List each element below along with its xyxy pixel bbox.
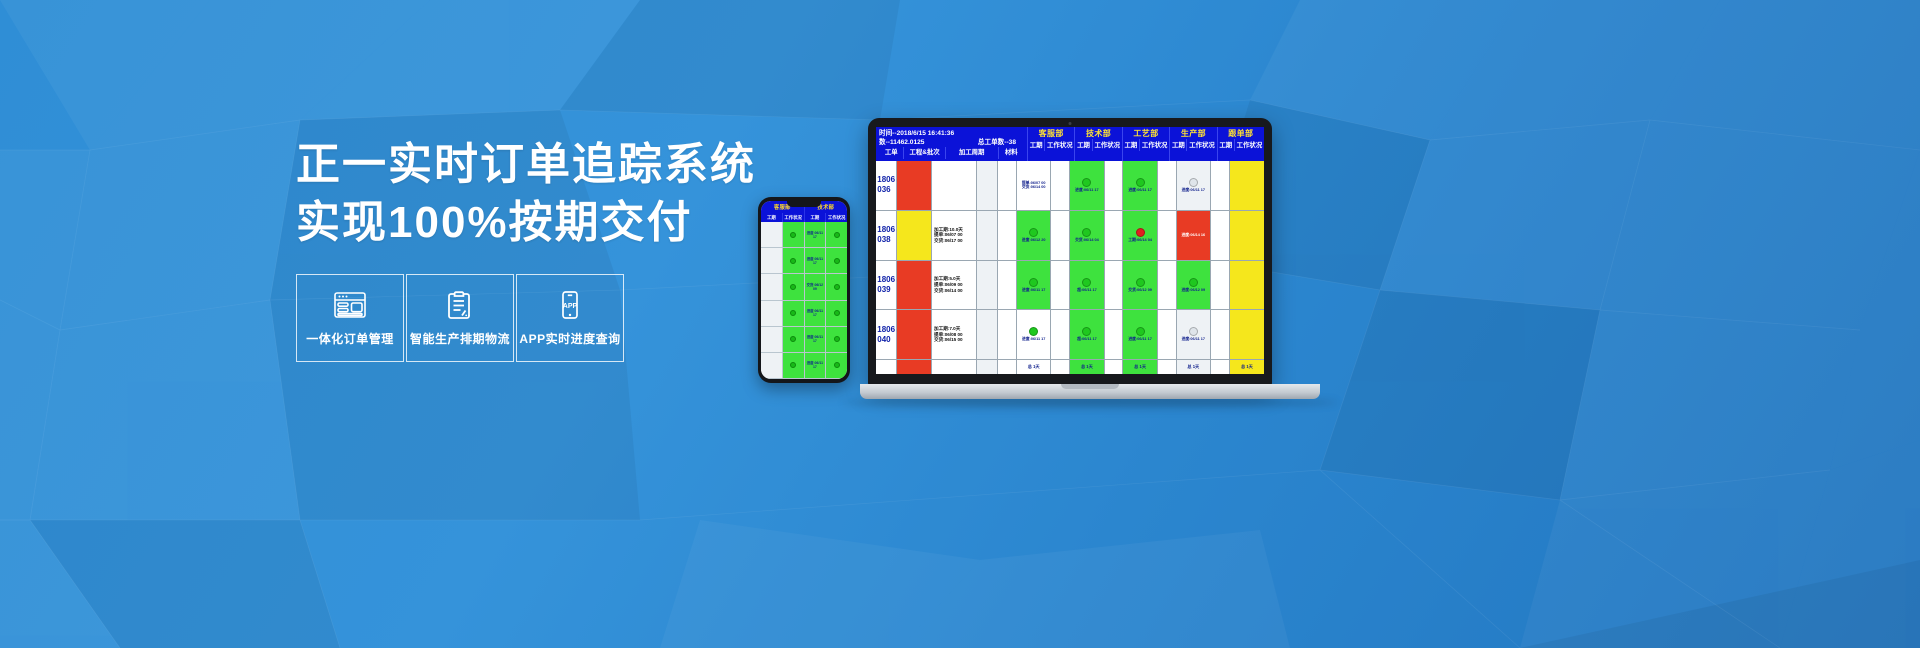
subheader-period: 工期 bbox=[1028, 139, 1045, 151]
status-dot-icon bbox=[834, 232, 840, 238]
laptop-trackpad-notch bbox=[1061, 384, 1119, 389]
cell-period[interactable] bbox=[1051, 161, 1070, 210]
status-dot-icon bbox=[1136, 228, 1145, 237]
cell-project[interactable] bbox=[897, 310, 932, 359]
cell-period bbox=[998, 360, 1017, 374]
dashboard-total-orders: 总工单数--38 bbox=[978, 138, 1016, 147]
laptop-lid: 时间--2018/6/15 16:41:36 数--11462.0125 总工单… bbox=[868, 118, 1272, 386]
phone-cell[interactable]: 进度:06/11 17 bbox=[805, 353, 826, 379]
cell-status[interactable]: 交货:06/12 09 bbox=[1123, 261, 1157, 310]
cell-period[interactable] bbox=[1211, 310, 1230, 359]
subheader-status: 工作状况 bbox=[1093, 139, 1122, 151]
cell-period[interactable] bbox=[1158, 310, 1177, 359]
cell-cycle[interactable]: 加工期:10.0天 提单:06/07 00 交货:06/17 00 bbox=[932, 211, 977, 260]
cell-status[interactable]: 进度:06/11 17 bbox=[1177, 161, 1211, 210]
feature-list: 一体化订单管理 智能生产排期物流 bbox=[296, 274, 816, 362]
cell-period[interactable] bbox=[998, 211, 1017, 260]
cell-status[interactable]: 交货:06/14 04 bbox=[1070, 211, 1104, 260]
footer-total: 总 1天 bbox=[1177, 360, 1211, 374]
status-dot-icon bbox=[834, 284, 840, 290]
laptop-shadow bbox=[842, 398, 1338, 407]
status-dot-icon bbox=[1082, 178, 1091, 187]
phone-cell[interactable]: 进度:06/11 17 bbox=[805, 301, 826, 327]
smartphone-device: 客服部 技术部 工期 工作状况 工期 工作状况 bbox=[758, 197, 850, 383]
phone-status-cell[interactable] bbox=[783, 301, 804, 327]
cell-period[interactable] bbox=[1158, 261, 1177, 310]
column-header-cycle: 加工周期 bbox=[946, 147, 999, 159]
footer-total: 总 1天 bbox=[1230, 360, 1264, 374]
subheader-period: 工期 bbox=[1170, 139, 1187, 151]
phone-table-body: 进度:06/11 17 进度:06/11 17 交货:06/12 09 进度:0… bbox=[761, 222, 847, 379]
status-dot-icon bbox=[790, 258, 796, 264]
cell-period[interactable] bbox=[1051, 261, 1070, 310]
phone-subheader-row: 工期 工作状况 工期 工作状况 bbox=[761, 213, 847, 222]
phone-column-period-cs bbox=[761, 222, 783, 379]
phone-screen: 客服部 技术部 工期 工作状况 工期 工作状况 bbox=[761, 201, 847, 379]
cell-period[interactable] bbox=[1158, 211, 1177, 260]
cell-period[interactable] bbox=[998, 161, 1017, 210]
phone-cell[interactable]: 进度:06/11 17 bbox=[805, 248, 826, 274]
cell-status[interactable]: 进度:06/11 17 bbox=[1123, 161, 1157, 210]
phone-status-cell[interactable] bbox=[826, 301, 847, 327]
status-dot-icon bbox=[834, 258, 840, 264]
laptop-screen: 时间--2018/6/15 16:41:36 数--11462.0125 总工单… bbox=[876, 127, 1264, 374]
dashboard-count: 数--11462.0125 bbox=[879, 138, 924, 147]
promo-banner: 正一实时订单追踪系统 实现100%按期交付 bbox=[0, 0, 1920, 648]
status-dot-icon bbox=[790, 336, 796, 342]
department-merchandising: 跟单部 工期 工作状况 bbox=[1218, 127, 1264, 161]
cell-work-order[interactable]: 1806 040 bbox=[876, 310, 897, 359]
status-dot-icon bbox=[1136, 327, 1145, 336]
phone-status-cell[interactable] bbox=[826, 248, 847, 274]
dashboard-table-body: 1806 036 提单:06/07 00 交货:06/14 00 进度:06/1… bbox=[876, 161, 1264, 374]
cell-status[interactable] bbox=[1230, 261, 1264, 310]
subheader-period: 工期 bbox=[1218, 139, 1235, 151]
phone-cell[interactable] bbox=[761, 353, 782, 379]
phone-status-cell[interactable] bbox=[826, 353, 847, 379]
department-customer-service: 客服部 工期 工作状况 bbox=[1028, 127, 1075, 161]
cell-period bbox=[1211, 360, 1230, 374]
phone-cell[interactable]: 进度:06/11 17 bbox=[805, 327, 826, 353]
phone-cell[interactable] bbox=[761, 327, 782, 353]
table-row[interactable]: 1806 039 加工期:5.0天 提单:06/09 00 交货:06/14 0… bbox=[876, 261, 1264, 311]
cell-cycle[interactable]: 加工期:5.0天 提单:06/09 00 交货:06/14 00 bbox=[932, 261, 977, 310]
cell-cycle[interactable]: 加工期:7.0天 提单:06/08 00 交货:06/15 00 bbox=[932, 310, 977, 359]
cell-period[interactable] bbox=[1051, 310, 1070, 359]
cell-cycle[interactable] bbox=[932, 161, 977, 210]
cell-period bbox=[1105, 360, 1124, 374]
status-dot-icon bbox=[790, 362, 796, 368]
phone-subheader: 工期 bbox=[805, 213, 827, 222]
status-dot-icon bbox=[790, 284, 796, 290]
phone-column-period-tech: 进度:06/11 17 进度:06/11 17 交货:06/12 09 进度:0… bbox=[805, 222, 827, 379]
column-header-project: 工程&批次 bbox=[904, 147, 945, 159]
subheader-status: 工作状况 bbox=[1235, 139, 1264, 151]
cell-project[interactable] bbox=[897, 161, 932, 210]
feature-item-app-progress[interactable]: APP APP实时进度查询 bbox=[516, 274, 624, 362]
cell-status[interactable] bbox=[1230, 211, 1264, 260]
cell-material[interactable] bbox=[977, 261, 998, 310]
phone-status-cell[interactable] bbox=[783, 274, 804, 300]
feature-item-production-schedule[interactable]: 智能生产排期物流 bbox=[406, 274, 514, 362]
phone-subheader: 工作状况 bbox=[826, 213, 847, 222]
cell-period[interactable] bbox=[1051, 211, 1070, 260]
webcam-icon bbox=[1069, 122, 1072, 125]
cell-status[interactable] bbox=[1230, 310, 1264, 359]
dashboard-header: 时间--2018/6/15 16:41:36 数--11462.0125 总工单… bbox=[876, 127, 1264, 161]
subheader-status: 工作状况 bbox=[1140, 139, 1169, 151]
cell-material[interactable] bbox=[977, 310, 998, 359]
cell-period[interactable] bbox=[1211, 261, 1230, 310]
status-dot-icon bbox=[1189, 327, 1198, 336]
order-tracking-dashboard: 时间--2018/6/15 16:41:36 数--11462.0125 总工单… bbox=[876, 127, 1264, 374]
phone-notch bbox=[787, 201, 821, 207]
status-dot-icon bbox=[834, 362, 840, 368]
footer-total: 总 1天 bbox=[1070, 360, 1104, 374]
status-dot-icon bbox=[1029, 327, 1038, 336]
status-dot-icon bbox=[1136, 178, 1145, 187]
phone-cell[interactable]: 交货:06/12 09 bbox=[805, 274, 826, 300]
feature-label: 一体化订单管理 bbox=[306, 330, 394, 347]
svg-text:APP: APP bbox=[563, 303, 578, 310]
clipboard-schedule-icon bbox=[443, 289, 477, 321]
table-row[interactable]: 1806 036 提单:06/07 00 交货:06/14 00 进度:06/1… bbox=[876, 161, 1264, 211]
status-dot-icon bbox=[1136, 278, 1145, 287]
department-headers: 客服部 工期 工作状况 技术部 工期 工作状况 bbox=[1028, 127, 1264, 161]
department-production: 生产部 工期 工作状况 bbox=[1170, 127, 1217, 161]
cell-period[interactable] bbox=[1211, 161, 1230, 210]
cell-work-order[interactable]: 1806 039 bbox=[876, 261, 897, 310]
phone-column-status-tech bbox=[826, 222, 847, 379]
cell-project bbox=[897, 360, 932, 374]
mobile-app-icon: APP bbox=[553, 289, 587, 321]
status-dot-icon bbox=[1082, 228, 1091, 237]
cell-cycle bbox=[932, 360, 977, 374]
subheader-status: 工作状况 bbox=[1045, 139, 1074, 151]
cell-period[interactable] bbox=[1105, 261, 1124, 310]
cell-status[interactable]: 进度:06/12 09 bbox=[1177, 261, 1211, 310]
cell-material[interactable] bbox=[977, 211, 998, 260]
status-dot-icon bbox=[1029, 228, 1038, 237]
cell-work-order bbox=[876, 360, 897, 374]
phone-column-status-cs bbox=[783, 222, 805, 379]
phone-cell[interactable] bbox=[761, 248, 782, 274]
feature-item-order-management[interactable]: 一体化订单管理 bbox=[296, 274, 404, 362]
dashboard-time: 时间--2018/6/15 16:41:36 bbox=[879, 129, 1024, 138]
feature-label: 智能生产排期物流 bbox=[410, 330, 510, 347]
phone-status-cell[interactable] bbox=[826, 274, 847, 300]
cell-period[interactable] bbox=[1105, 211, 1124, 260]
status-dot-icon bbox=[834, 336, 840, 342]
department-name: 工艺部 bbox=[1123, 127, 1169, 139]
cell-status[interactable]: 工期:06/14 04 bbox=[1123, 211, 1157, 260]
table-footer-row: 总 1天 总 1天 总 1天 总 1天 总 1天 bbox=[876, 360, 1264, 374]
cell-status[interactable]: 进度:06/11 17 bbox=[1123, 310, 1157, 359]
cell-status[interactable]: 进度:06/11 17 bbox=[1017, 261, 1051, 310]
subheader-period: 工期 bbox=[1123, 139, 1140, 151]
phone-cell[interactable]: 进度:06/11 17 bbox=[805, 222, 826, 248]
cell-status[interactable]: 进度:06/11 17 bbox=[1177, 310, 1211, 359]
phone-cell[interactable] bbox=[761, 301, 782, 327]
cell-work-order[interactable]: 1806 036 bbox=[876, 161, 897, 210]
cell-status[interactable]: 进度:06/14 16 bbox=[1177, 211, 1211, 260]
cell-material bbox=[977, 360, 998, 374]
phone-cell[interactable] bbox=[761, 222, 782, 248]
phone-status-cell[interactable] bbox=[783, 327, 804, 353]
cell-period bbox=[1158, 360, 1177, 374]
cell-status[interactable]: 超:06/11 17 bbox=[1070, 310, 1104, 359]
subheader-period: 工期 bbox=[1075, 139, 1092, 151]
table-row[interactable]: 1806 038 加工期:10.0天 提单:06/07 00 交货:06/17 … bbox=[876, 211, 1264, 261]
hero-copy: 正一实时订单追踪系统 实现100%按期交付 bbox=[296, 136, 816, 362]
cell-period[interactable] bbox=[998, 261, 1017, 310]
phone-status-cell[interactable] bbox=[826, 222, 847, 248]
cell-period[interactable] bbox=[1158, 161, 1177, 210]
status-dot-icon bbox=[834, 310, 840, 316]
phone-status-cell[interactable] bbox=[783, 222, 804, 248]
cell-period[interactable] bbox=[998, 310, 1017, 359]
footer-total: 总 1天 bbox=[1017, 360, 1051, 374]
phone-status-cell[interactable] bbox=[783, 248, 804, 274]
status-dot-icon bbox=[790, 232, 796, 238]
department-name: 生产部 bbox=[1170, 127, 1216, 139]
phone-subheader: 工期 bbox=[761, 213, 783, 222]
department-name: 跟单部 bbox=[1218, 127, 1264, 139]
page-title: 正一实时订单追踪系统 实现100%按期交付 bbox=[296, 136, 816, 252]
phone-subheader: 工作状况 bbox=[783, 213, 805, 222]
department-process: 工艺部 工期 工作状况 bbox=[1123, 127, 1170, 161]
cell-material[interactable] bbox=[977, 161, 998, 210]
footer-total: 总 1天 bbox=[1123, 360, 1157, 374]
cell-status[interactable] bbox=[1230, 161, 1264, 210]
dashboard-layout-icon bbox=[333, 289, 367, 321]
cell-project[interactable] bbox=[897, 211, 932, 260]
meta-subheader-row: 工单 工程&批次 加工周期 材料 bbox=[879, 147, 1024, 159]
cell-status[interactable]: 进度:06/11 17 bbox=[1017, 310, 1051, 359]
dashboard-meta: 时间--2018/6/15 16:41:36 数--11462.0125 总工单… bbox=[876, 127, 1028, 161]
cell-work-order[interactable]: 1806 038 bbox=[876, 211, 897, 260]
phone-status-cell[interactable] bbox=[783, 353, 804, 379]
department-name: 客服部 bbox=[1028, 127, 1074, 139]
status-dot-icon bbox=[1189, 278, 1198, 287]
cell-period[interactable] bbox=[1211, 211, 1230, 260]
status-dot-icon bbox=[1029, 278, 1038, 287]
cell-period[interactable] bbox=[1105, 161, 1124, 210]
cell-period[interactable] bbox=[1105, 310, 1124, 359]
cell-status[interactable]: 提单:06/07 00 交货:06/14 00 bbox=[1017, 161, 1051, 210]
column-header-material: 材料 bbox=[999, 147, 1024, 159]
status-dot-icon bbox=[1082, 327, 1091, 336]
cell-status[interactable]: 超:06/11 17 bbox=[1070, 261, 1104, 310]
department-name: 技术部 bbox=[1075, 127, 1121, 139]
phone-cell[interactable] bbox=[761, 274, 782, 300]
cell-status[interactable]: 进度:06/12 20 bbox=[1017, 211, 1051, 260]
column-header-work-order: 工单 bbox=[879, 147, 904, 159]
status-dot-icon bbox=[790, 310, 796, 316]
phone-status-cell[interactable] bbox=[826, 327, 847, 353]
department-technical: 技术部 工期 工作状况 bbox=[1075, 127, 1122, 161]
cell-status[interactable]: 进度:06/11 17 bbox=[1070, 161, 1104, 210]
subheader-status: 工作状况 bbox=[1187, 139, 1216, 151]
cell-project[interactable] bbox=[897, 261, 932, 310]
status-dot-icon bbox=[1082, 278, 1091, 287]
table-row[interactable]: 1806 040 加工期:7.0天 提单:06/08 00 交货:06/15 0… bbox=[876, 310, 1264, 360]
cell-period bbox=[1051, 360, 1070, 374]
laptop-device: 时间--2018/6/15 16:41:36 数--11462.0125 总工单… bbox=[860, 118, 1320, 418]
feature-label: APP实时进度查询 bbox=[519, 330, 620, 347]
status-dot-icon bbox=[1189, 178, 1198, 187]
